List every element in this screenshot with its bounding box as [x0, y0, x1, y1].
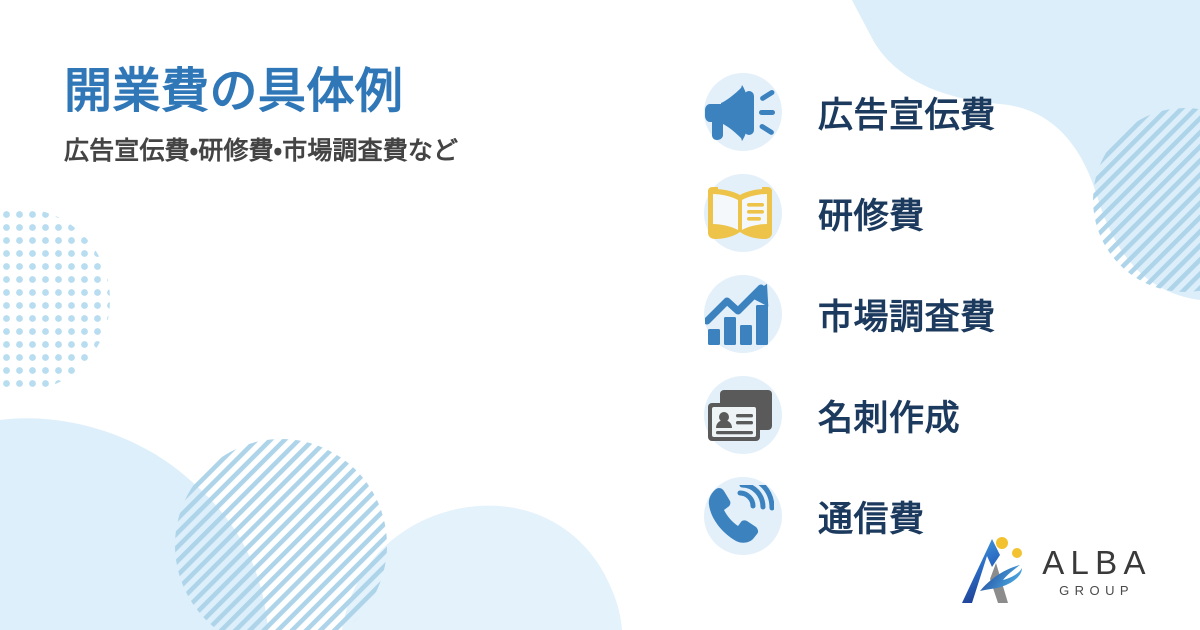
- bar-chart-growth-icon: [690, 265, 790, 365]
- list-item-label: 研修費: [818, 188, 925, 239]
- slide-canvas: 開業費の具体例 広告宣伝費・研修費・市場調査費など 広告宣伝費: [0, 0, 1200, 630]
- bottom-right-blob: [342, 506, 622, 630]
- logo-subword: GROUP: [1054, 584, 1134, 597]
- list-item: 研修費: [690, 163, 1160, 264]
- list-item-label: 通信費: [818, 491, 925, 542]
- headline-block: 開業費の具体例 広告宣伝費・研修費・市場調査費など: [64, 64, 664, 167]
- phone-ringing-icon: [690, 467, 790, 567]
- list-item: 市場調査費: [690, 264, 1160, 365]
- logo-wordmark: ALBA GROUP: [1036, 546, 1152, 597]
- bottom-left-blob: [0, 418, 268, 630]
- list-item: 広告宣伝費: [690, 62, 1160, 163]
- bottom-left-blob-tail: [0, 463, 258, 630]
- list-item-label: 名刺作成: [818, 390, 960, 441]
- expense-examples-list: 広告宣伝費 研修費: [690, 62, 1160, 567]
- alba-group-logo: ALBA GROUP: [962, 533, 1152, 610]
- open-book-icon: [690, 164, 790, 264]
- megaphone-icon: [690, 63, 790, 163]
- list-item-label: 市場調査費: [818, 289, 996, 340]
- page-subtitle: 広告宣伝費・研修費・市場調査費など: [64, 135, 664, 168]
- list-item-label: 広告宣伝費: [818, 87, 996, 138]
- alba-a-mark-icon: [962, 533, 1028, 610]
- business-card-icon: [690, 366, 790, 466]
- list-item: 名刺作成: [690, 365, 1160, 466]
- left-dot-grid-circle: [0, 200, 120, 400]
- logo-word: ALBA: [1036, 546, 1152, 579]
- page-title: 開業費の具体例: [64, 64, 664, 121]
- bottom-center-striped-circle: [170, 435, 395, 630]
